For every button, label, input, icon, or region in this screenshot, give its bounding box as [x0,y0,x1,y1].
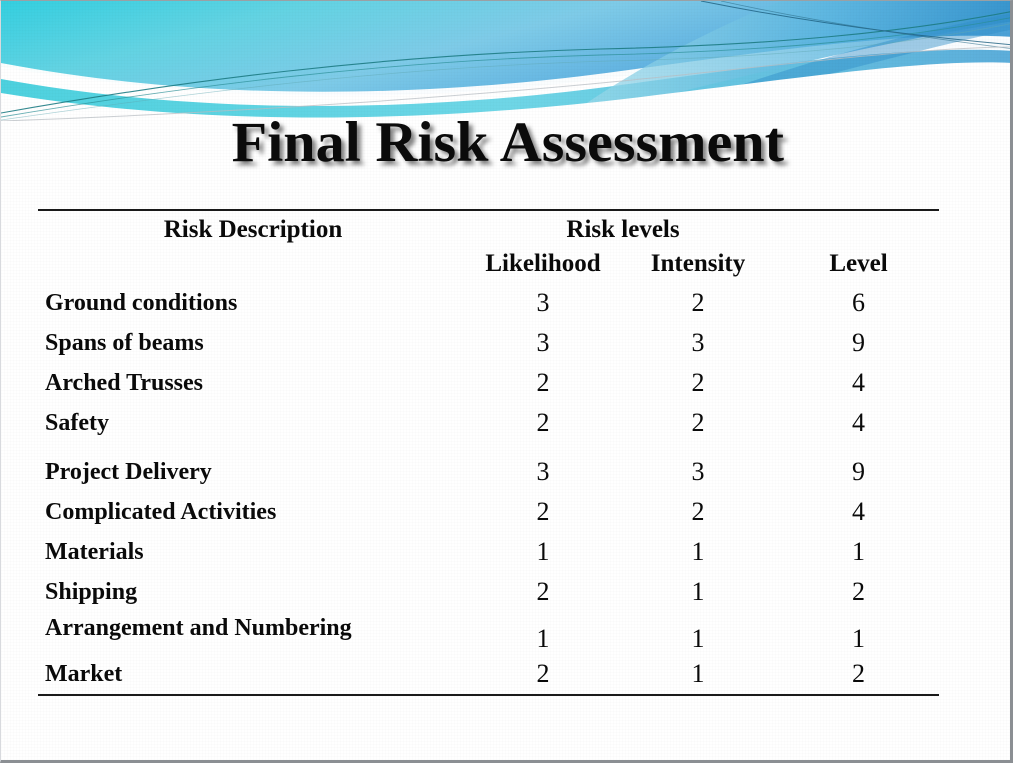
likelihood-value-cell: 2 [468,654,618,695]
column-header-likelihood: Likelihood [468,246,618,283]
intensity-value-cell: 2 [618,283,778,323]
page-title: Final Risk Assessment [1,113,1013,173]
risk-description-cell: Complicated Activities [38,492,468,532]
intensity-value-cell: 1 [618,532,778,572]
table-header: Risk Description Risk levels Likelihood … [38,210,939,283]
risk-description-cell: Shipping [38,572,468,612]
likelihood-value-cell: 3 [468,323,618,363]
column-header-intensity: Intensity [618,246,778,283]
level-value-cell: 2 [778,572,939,612]
risk-description-cell: Arched Trusses [38,363,468,403]
risk-description-cell: Spans of beams [38,323,468,363]
intensity-value-cell: 2 [618,492,778,532]
likelihood-value-cell: 3 [468,443,618,492]
table-row: Arched Trusses224 [38,363,939,403]
risk-description-cell: Arrangement and Numbering [38,607,468,649]
column-header-spacer [778,211,939,246]
risk-description-cell: Materials [38,532,468,572]
column-header-risk-levels: Risk levels [468,211,778,246]
column-header-blank [38,246,468,283]
slide-canvas: Final Risk Assessment Risk Description R… [0,0,1013,763]
risk-description-cell: Market [38,654,468,695]
intensity-value-cell: 2 [618,363,778,403]
table-row: Materials111 [38,532,939,572]
table-header-row-group: Risk Description Risk levels [38,211,939,246]
intensity-value-cell: 1 [618,572,778,612]
table-row: Project Delivery339 [38,443,939,492]
table-body: Ground conditions326Spans of beams339Arc… [38,283,939,695]
page-title-text: Final Risk Assessment [231,113,783,173]
level-value-cell: 2 [778,654,939,695]
level-value-cell: 9 [778,443,939,492]
risk-description-cell: Project Delivery [38,443,468,492]
level-value-cell: 1 [778,618,939,660]
column-header-risk-description: Risk Description [38,211,468,246]
table-row: Complicated Activities224 [38,492,939,532]
column-header-level: Level [778,246,939,283]
intensity-value-cell: 3 [618,323,778,363]
likelihood-value-cell: 1 [468,618,618,660]
likelihood-value-cell: 2 [468,572,618,612]
table-row: Spans of beams339 [38,323,939,363]
table-row: Safety224 [38,403,939,443]
table-row: Market212 [38,654,939,695]
likelihood-value-cell: 2 [468,492,618,532]
level-value-cell: 4 [778,403,939,443]
likelihood-value-cell: 2 [468,363,618,403]
level-value-cell: 6 [778,283,939,323]
decorative-wave-header [1,1,1013,121]
level-value-cell: 4 [778,363,939,403]
table-row: Arrangement and Numbering111 [38,612,939,654]
intensity-value-cell: 1 [618,654,778,695]
table-row: Shipping212 [38,572,939,612]
likelihood-value-cell: 1 [468,532,618,572]
level-value-cell: 4 [778,492,939,532]
intensity-value-cell: 2 [618,403,778,443]
risk-description-cell: Safety [38,403,468,443]
intensity-value-cell: 1 [618,618,778,660]
risk-assessment-table-container: Risk Description Risk levels Likelihood … [38,209,939,696]
likelihood-value-cell: 3 [468,283,618,323]
table-header-row-sub: Likelihood Intensity Level [38,246,939,283]
level-value-cell: 9 [778,323,939,363]
table-footer [38,695,939,696]
risk-assessment-table: Risk Description Risk levels Likelihood … [38,209,939,696]
risk-description-cell: Ground conditions [38,283,468,323]
level-value-cell: 1 [778,532,939,572]
likelihood-value-cell: 2 [468,403,618,443]
table-row: Ground conditions326 [38,283,939,323]
table-bottom-rule [38,695,939,696]
intensity-value-cell: 3 [618,443,778,492]
